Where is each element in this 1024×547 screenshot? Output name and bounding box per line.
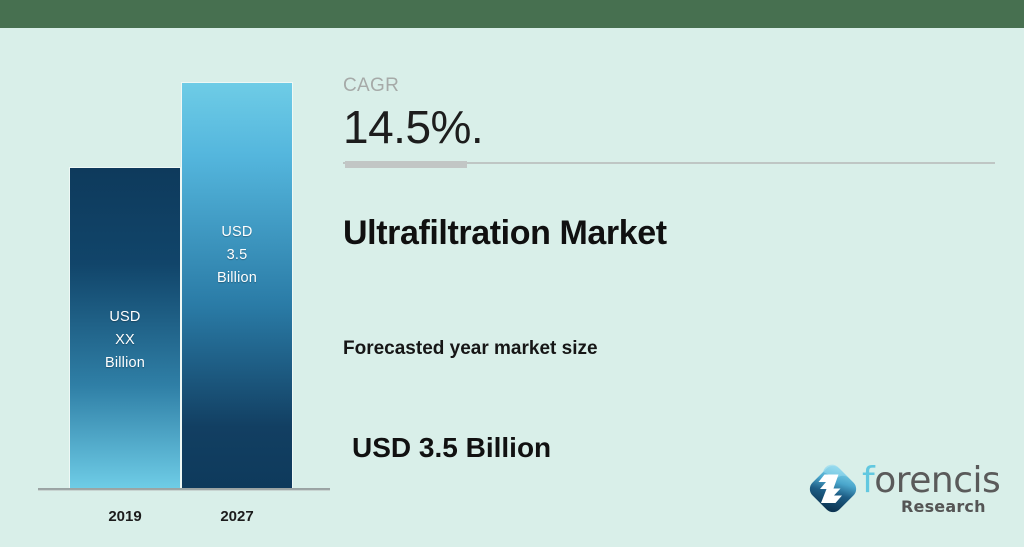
bar-2027-unit: Billion [182,267,292,290]
x-tick-2019: 2019 [70,508,180,525]
bar-chart-panel: USD XX Billion USD 3.5 Billion 2019 2027 [0,28,336,547]
forecast-caption: Forecasted year market size [343,338,598,360]
forencis-wordmark: forencis Research [862,452,1002,524]
cagr-value: 14.5%. [343,100,483,154]
logo-word-accent: f [862,460,874,501]
top-accent-band [0,0,1024,28]
logo-word-rest: orencis [874,460,1000,501]
forecast-value: USD 3.5 Billion [352,432,551,464]
forencis-diamond-icon [802,458,864,520]
forencis-logo: forencis Research [800,452,1000,524]
cagr-label: CAGR [343,75,399,97]
x-tick-2027: 2027 [182,508,292,525]
page-title: Ultrafiltration Market [343,214,667,253]
infographic-canvas: USD XX Billion USD 3.5 Billion 2019 2027 [0,0,1024,547]
bar-2027-label: USD 3.5 Billion [182,221,292,290]
bar-2019-unit: Billion [70,352,180,375]
bar-2027-amount: 3.5 [182,244,292,267]
x-axis-line [38,488,330,491]
logo-word: forencis [862,460,1000,501]
bar-2019-currency: USD [70,306,180,329]
bar-2019-label: USD XX Billion [70,306,180,375]
bar-group: USD XX Billion USD 3.5 Billion [38,48,330,488]
logo-subtitle: Research [901,497,986,516]
x-axis-tick-labels: 2019 2027 [38,502,330,536]
divider-thick-rule [345,161,467,168]
bar-2019-amount: XX [70,329,180,352]
plot-area: USD XX Billion USD 3.5 Billion [38,48,330,488]
section-divider [343,161,995,164]
bar-2027-currency: USD [182,221,292,244]
bar-2019: USD XX Billion [70,168,180,488]
bar-2027: USD 3.5 Billion [182,83,292,488]
